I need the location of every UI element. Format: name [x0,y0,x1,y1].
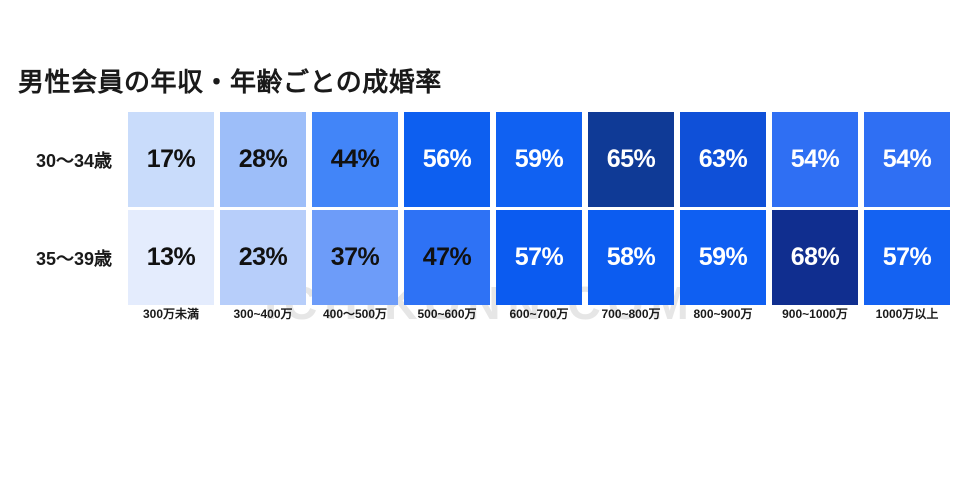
heatmap-cell[interactable]: 28% [220,112,306,207]
row-label-age-30-34: 30〜34歳 [14,112,120,207]
x-axis-tick-label: 300~400万 [220,305,306,322]
x-axis-tick-label: 700~800万 [588,305,674,322]
heatmap-cell[interactable]: 54% [864,112,950,207]
heatmap-row-cells: 17% 28% 44% 56% 59% 65% 63% 54% 54% [128,112,950,207]
x-axis-tick-label: 500~600万 [404,305,490,322]
chart-title: 男性会員の年収・年齢ごとの成婚率 [18,62,442,99]
heatmap-cell[interactable]: 13% [128,210,214,305]
heatmap-row: 35〜39歳 13% 23% 37% 47% 57% 58% 59% 68% 5… [0,210,960,305]
heatmap-grid: 30〜34歳 17% 28% 44% 56% 59% 65% 63% 54% 5… [0,112,960,327]
row-label-age-35-39: 35〜39歳 [14,210,120,305]
x-axis-tick-label: 300万未満 [128,305,214,322]
heatmap-cell[interactable]: 57% [864,210,950,305]
heatmap-cell[interactable]: 56% [404,112,490,207]
heatmap-cell[interactable]: 68% [772,210,858,305]
heatmap-cell[interactable]: 65% [588,112,674,207]
heatmap-cell[interactable]: 47% [404,210,490,305]
x-axis-tick-label: 400〜500万 [312,305,398,322]
heatmap-cell[interactable]: 59% [680,210,766,305]
x-axis-tick-label: 1000万以上 [864,305,950,322]
heatmap-cell[interactable]: 37% [312,210,398,305]
heatmap-cell[interactable]: 23% [220,210,306,305]
heatmap-cell[interactable]: 17% [128,112,214,207]
heatmap-cell[interactable]: 63% [680,112,766,207]
x-axis-tick-label: 800~900万 [680,305,766,322]
chart-root: ICHIKONN.COM 男性会員の年収・年齢ごとの成婚率 30〜34歳 17%… [0,0,960,504]
heatmap-cell[interactable]: 57% [496,210,582,305]
x-axis-tick-label: 600~700万 [496,305,582,322]
heatmap-row: 30〜34歳 17% 28% 44% 56% 59% 65% 63% 54% 5… [0,112,960,207]
heatmap-cell[interactable]: 59% [496,112,582,207]
heatmap-row-cells: 13% 23% 37% 47% 57% 58% 59% 68% 57% [128,210,950,305]
x-axis-tick-label: 900~1000万 [772,305,858,322]
heatmap-cell[interactable]: 58% [588,210,674,305]
heatmap-cell[interactable]: 44% [312,112,398,207]
x-axis-labels: 300万未満 300~400万 400〜500万 500~600万 600~70… [128,305,950,322]
heatmap-cell[interactable]: 54% [772,112,858,207]
